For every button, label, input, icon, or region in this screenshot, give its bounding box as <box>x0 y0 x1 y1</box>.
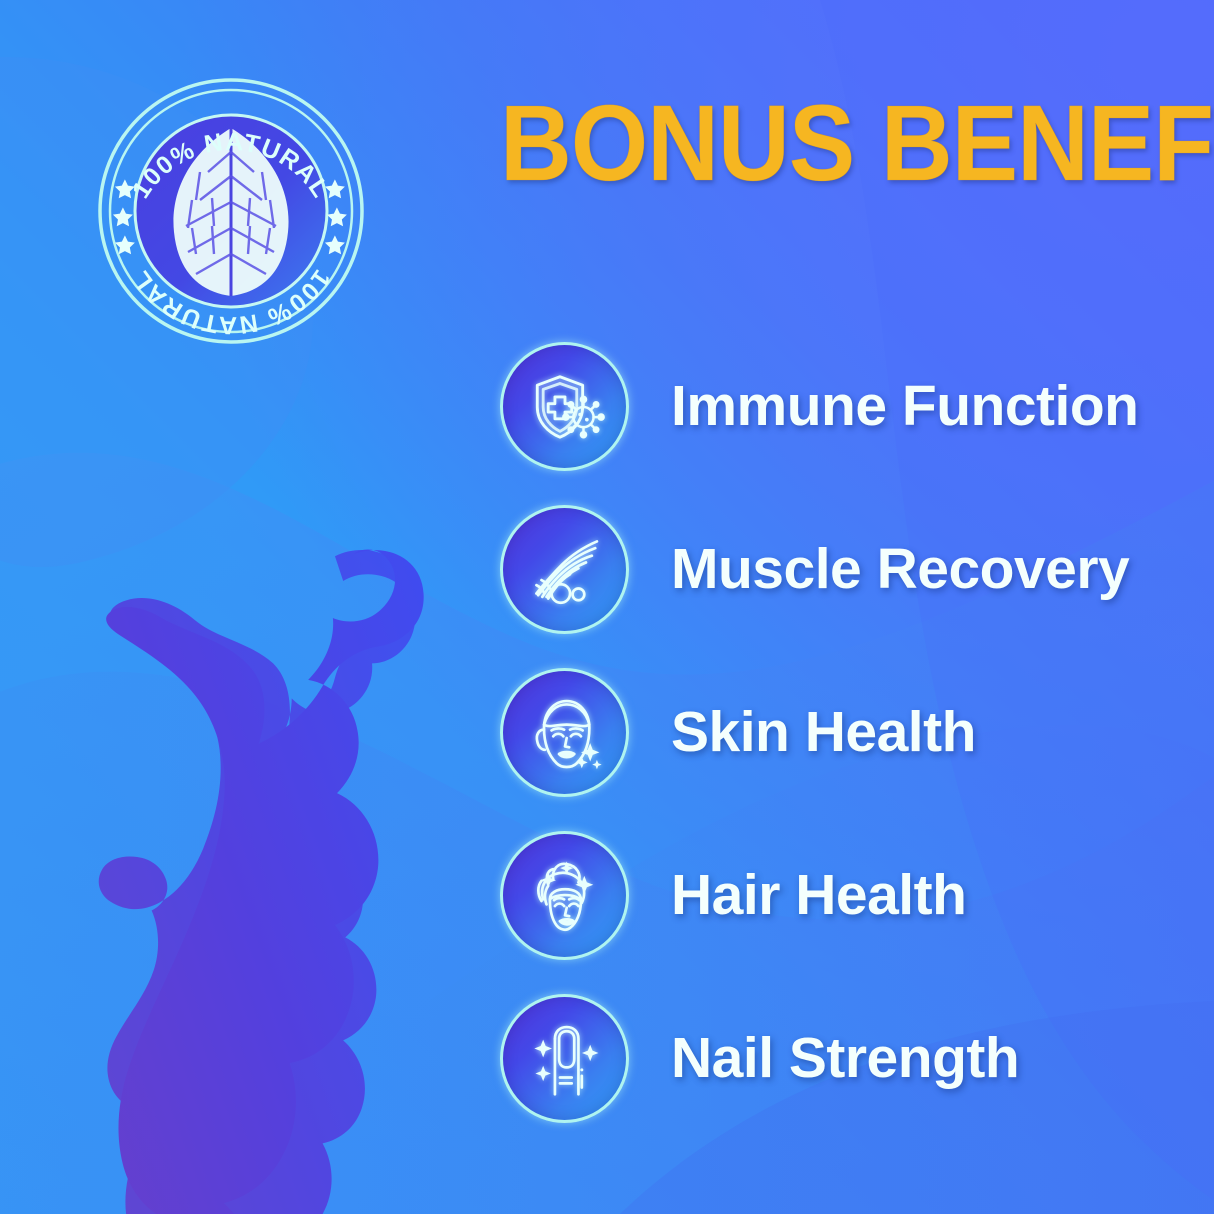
natural-badge: 100% NATURAL 100% NATURAL <box>96 76 366 346</box>
benefit-icon-circle <box>500 831 629 960</box>
benefit-label: Hair Health <box>671 867 966 924</box>
benefit-item-muscle-recovery[interactable]: Muscle Recovery <box>500 488 1200 651</box>
sparkles <box>534 1039 598 1080</box>
badge-seal-graphic: 100% NATURAL 100% NATURAL <box>96 76 366 346</box>
muscle-fiber-icon <box>523 528 607 612</box>
benefit-label: Nail Strength <box>671 1030 1019 1087</box>
benefit-item-skin-health[interactable]: Skin Health <box>500 651 1200 814</box>
page-title: BONUS BENEFITS <box>500 88 1107 198</box>
benefit-item-hair-health[interactable]: Hair Health <box>500 814 1200 977</box>
benefit-icon-circle <box>500 342 629 471</box>
benefit-label: Skin Health <box>671 704 976 761</box>
benefit-icon-circle <box>500 668 629 797</box>
benefit-label: Immune Function <box>671 378 1138 435</box>
benefit-icon-circle <box>500 505 629 634</box>
shield-virus-icon <box>523 365 607 449</box>
benefit-label: Muscle Recovery <box>671 541 1129 598</box>
benefit-icon-circle <box>500 994 629 1123</box>
hair-bun-sparkle-icon <box>523 854 607 938</box>
benefits-list: Immune Function <box>500 325 1200 1140</box>
benefit-item-immune-function[interactable]: Immune Function <box>500 325 1200 488</box>
face-sparkle-icon <box>523 691 607 775</box>
bonus-benefits-infographic: 100% NATURAL 100% NATURAL BONUS BENEFITS <box>0 0 1214 1214</box>
benefit-item-nail-strength[interactable]: Nail Strength <box>500 977 1200 1140</box>
sparkles <box>575 743 601 769</box>
fingernail-sparkle-icon <box>523 1017 607 1101</box>
